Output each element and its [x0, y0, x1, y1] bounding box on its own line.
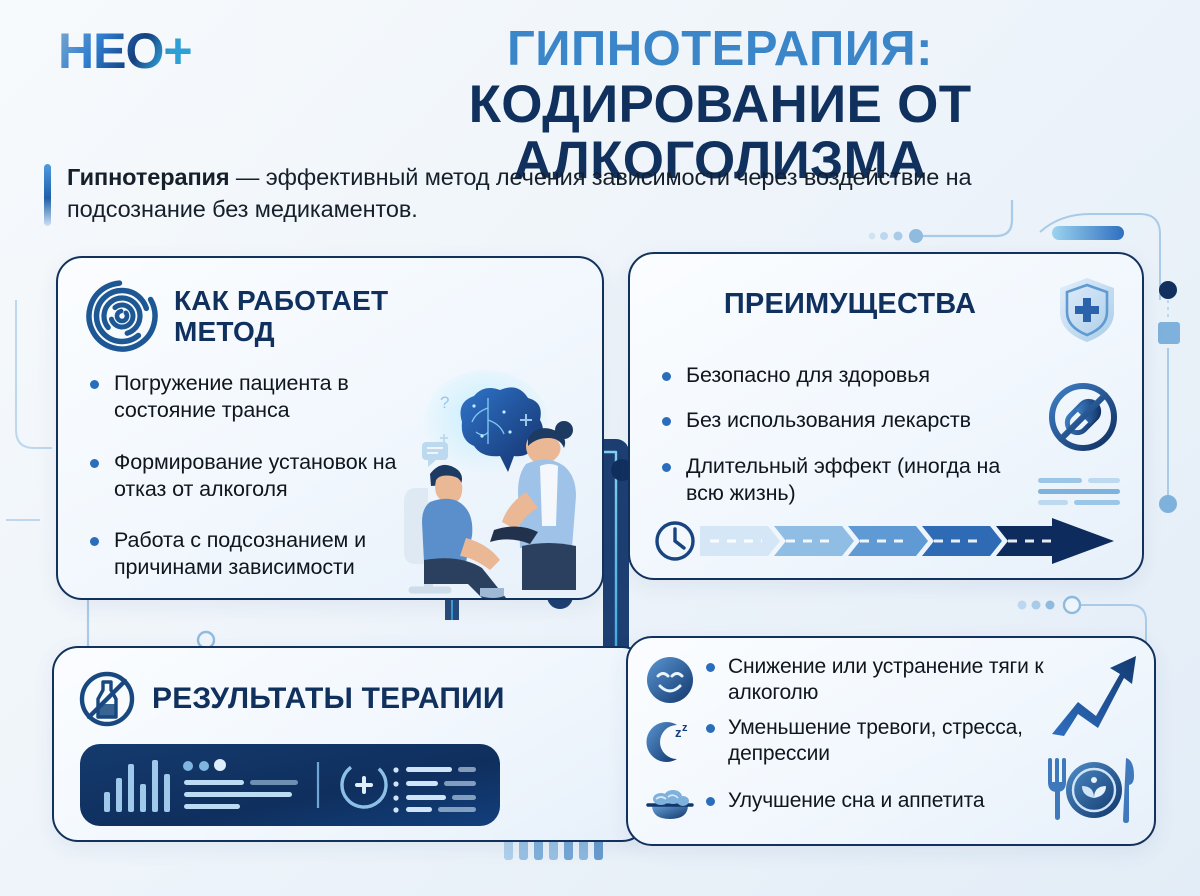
list-item: Безопасно для здоровья: [660, 362, 1040, 389]
shield-plus-icon: [1056, 276, 1118, 344]
card-therapy-effects: Снижение или устранение тяги к алкоголю …: [626, 636, 1156, 846]
therapy-session-illustration: ?: [378, 362, 598, 598]
card-benefits: ПРЕИМУЩЕСТВА Безопасно для здоровья Без …: [628, 252, 1144, 580]
list-item: Без использования лекарств: [660, 407, 1040, 434]
subtitle: Гипнотерапия — эффективный метод лечения…: [44, 162, 1114, 226]
calm-face-icon: [644, 654, 696, 706]
card-results-title: РЕЗУЛЬТАТЫ ТЕРАПИИ: [152, 682, 505, 716]
card-how-method-works: КАК РАБОТАЕТ МЕТОД Погружение пациента в…: [56, 256, 604, 600]
svg-text:?: ?: [440, 393, 449, 412]
list-item: z z Уменьшение тревоги, стресса, депресс…: [644, 715, 1064, 768]
header: НЕО+ ГИПНОТЕРАПИЯ: КОДИРОВАНИЕ ОТ АЛКОГО…: [0, 0, 1200, 160]
healthy-food-bowl-icon: [644, 775, 696, 827]
card-method-header: КАК РАБОТАЕТ МЕТОД: [86, 280, 434, 352]
svg-text:z: z: [675, 725, 682, 740]
subtitle-text: Гипнотерапия — эффективный метод лечения…: [67, 162, 1114, 226]
hypnosis-spiral-icon: [86, 280, 158, 352]
card-method-title: КАК РАБОТАЕТ МЕТОД: [174, 285, 434, 348]
card-benefits-title: ПРЕИМУЩЕСТВА: [630, 288, 1070, 320]
growth-arrow-icon: [1048, 644, 1140, 740]
card-results-header: РЕЗУЛЬТАТЫ ТЕРАПИИ: [78, 670, 505, 728]
duration-timeline: [652, 518, 1122, 564]
no-alcohol-bottle-icon: [78, 670, 136, 728]
brand-logo: НЕО+: [58, 26, 192, 76]
list-item: Длительный эффект (иногда на всю жизнь): [660, 453, 1040, 508]
meal-plate-icon: [1042, 752, 1138, 826]
subtitle-accent-bar: [44, 164, 51, 226]
sleep-moon-icon: z z: [644, 715, 696, 767]
no-pills-icon: [1046, 380, 1120, 454]
svg-text:z: z: [682, 722, 688, 734]
list-item: Улучшение сна и аппетита: [644, 775, 1064, 827]
effect-text: Снижение или устранение тяги к алкоголю: [706, 654, 1064, 707]
card-therapy-results: РЕЗУЛЬТАТЫ ТЕРАПИИ: [52, 646, 648, 842]
card-benefits-bullet-list: Безопасно для здоровья Без использования…: [660, 362, 1040, 525]
effect-text: Уменьшение тревоги, стресса, депрессии: [706, 715, 1064, 768]
effects-list: Снижение или устранение тяги к алкоголю …: [644, 654, 1064, 835]
text-lines-decoration: [1038, 476, 1120, 510]
title-line-primary: ГИПНОТЕРАПИЯ:: [270, 24, 1170, 75]
list-item: Снижение или устранение тяги к алкоголю: [644, 654, 1064, 707]
results-dashboard-graphic: [80, 744, 500, 826]
timeline-segments: [700, 518, 1114, 564]
effect-text: Улучшение сна и аппетита: [706, 788, 984, 814]
subtitle-lead: Гипнотерапия: [67, 164, 230, 190]
